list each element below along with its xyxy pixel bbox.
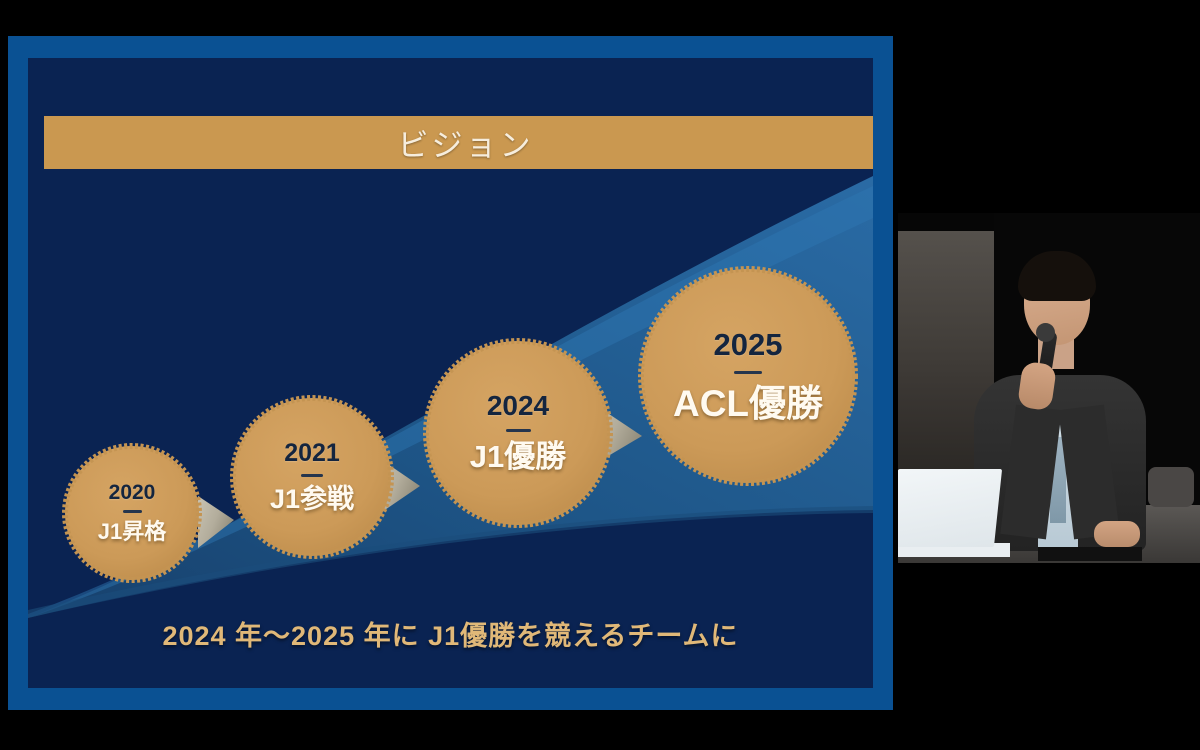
milestone-2025[interactable]: 2025 ACL優勝	[648, 276, 848, 476]
milestone-label: J1優勝	[470, 441, 566, 474]
microphone-head	[1036, 323, 1055, 342]
screen: ビジョン	[0, 0, 1200, 750]
chair	[1148, 467, 1194, 507]
timeline-arrow-1	[198, 496, 234, 548]
laptop-screen	[898, 469, 1002, 547]
milestone-year: 2021	[284, 441, 340, 466]
slide-caption: 2024 年〜2025 年に J1優勝を競えるチームに	[28, 614, 873, 653]
keyboard	[1038, 547, 1142, 561]
milestone-label: J1参戦	[270, 485, 354, 513]
presenter-video[interactable]	[898, 213, 1200, 563]
milestone-2024[interactable]: 2024 J1優勝	[434, 349, 602, 517]
milestone-divider	[506, 429, 531, 432]
milestone-divider	[123, 510, 142, 513]
milestone-2021[interactable]: 2021 J1参戦	[233, 398, 391, 556]
milestone-2020[interactable]: 2020 J1昇格	[65, 446, 199, 580]
presenter-hand-on-desk	[1094, 521, 1140, 547]
milestone-year: 2025	[714, 329, 783, 360]
milestone-divider	[301, 474, 323, 477]
presentation-slide: ビジョン	[28, 58, 873, 688]
milestone-year: 2024	[487, 392, 549, 420]
slide-outer-frame: ビジョン	[8, 36, 893, 710]
milestone-label: J1昇格	[98, 520, 166, 543]
milestone-divider	[734, 371, 762, 374]
milestone-label: ACL優勝	[673, 385, 823, 424]
milestone-year: 2020	[109, 482, 156, 503]
